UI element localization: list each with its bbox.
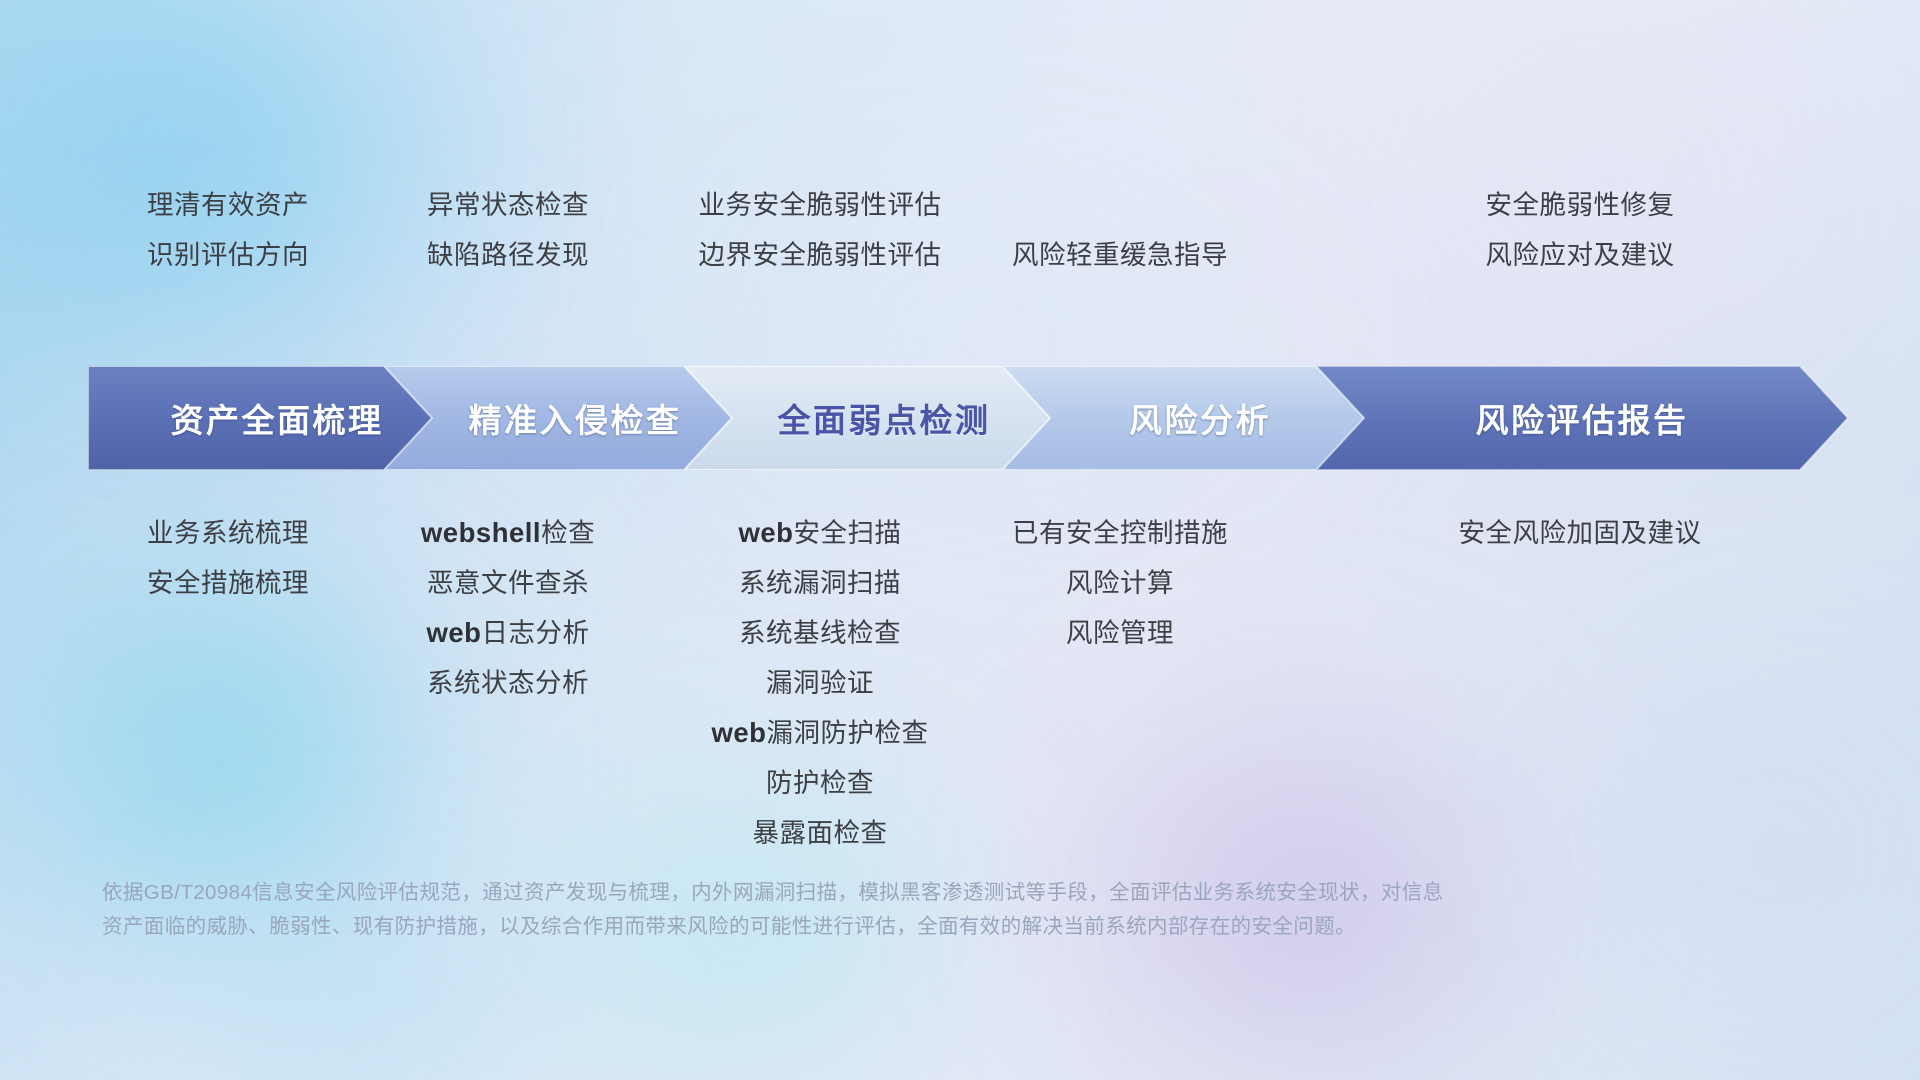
footnote-line-1: 依据GB/T20984信息安全风险评估规范，通过资产发现与梳理，内外网漏洞扫描，… (102, 876, 1622, 910)
chevron-label-4: 风险分析 (1129, 394, 1271, 442)
stage-5-top-item: 风险应对及建议 (1370, 230, 1790, 280)
footnote-line-2: 资产面临的威胁、脆弱性、现有防护措施，以及综合作用而带来风险的可能性进行评估，全… (102, 910, 1622, 944)
stage-3-bottom-item: 漏洞验证 (620, 658, 1020, 708)
stage-3-bottom-item: web漏洞防护检查 (620, 708, 1020, 758)
stage-4-top-item: 风险轻重缓急指导 (930, 230, 1310, 280)
stage-1-top-item: 理清有效资产 (68, 180, 388, 230)
stage-3-top-item: 业务安全脆弱性评估 (620, 180, 1020, 230)
stage-5-bottom-item: 安全风险加固及建议 (1370, 508, 1790, 558)
stage-4-bottom-list: 已有安全控制措施 风险计算 风险管理 (930, 508, 1310, 658)
stage-1-top-list: 理清有效资产 识别评估方向 (68, 180, 388, 280)
stage-1-top-item: 识别评估方向 (68, 230, 388, 280)
stage-4-bottom-item: 已有安全控制措施 (930, 508, 1310, 558)
stage-1-bottom-item: 业务系统梳理 (68, 508, 388, 558)
stage-4-bottom-item: 风险计算 (930, 558, 1310, 608)
stage-3-bottom-item: 暴露面检查 (620, 808, 1020, 858)
stage-5-top-list: 安全脆弱性修复 风险应对及建议 (1370, 180, 1790, 280)
stage-3-bottom-item: 防护检查 (620, 758, 1020, 808)
chevron-label-2: 精准入侵检查 (469, 394, 682, 442)
chevron-label-1: 资产全面梳理 (171, 394, 384, 442)
chevron-label-5: 风险评估报告 (1476, 394, 1689, 442)
diagram-canvas: 资产全面梳理 精准入侵检查 (0, 0, 1920, 1080)
stage-1-bottom-list: 业务系统梳理 安全措施梳理 (68, 508, 388, 608)
chevron-label-3: 全面弱点检测 (778, 394, 991, 442)
stage-5-bottom-list: 安全风险加固及建议 (1370, 508, 1790, 558)
stage-1-bottom-item: 安全措施梳理 (68, 558, 388, 608)
footnote: 依据GB/T20984信息安全风险评估规范，通过资产发现与梳理，内外网漏洞扫描，… (102, 876, 1622, 944)
stage-4-bottom-item: 风险管理 (930, 608, 1310, 658)
stage-4-top-list: 风险轻重缓急指导 (930, 230, 1310, 280)
stage-5-top-item: 安全脆弱性修复 (1370, 180, 1790, 230)
